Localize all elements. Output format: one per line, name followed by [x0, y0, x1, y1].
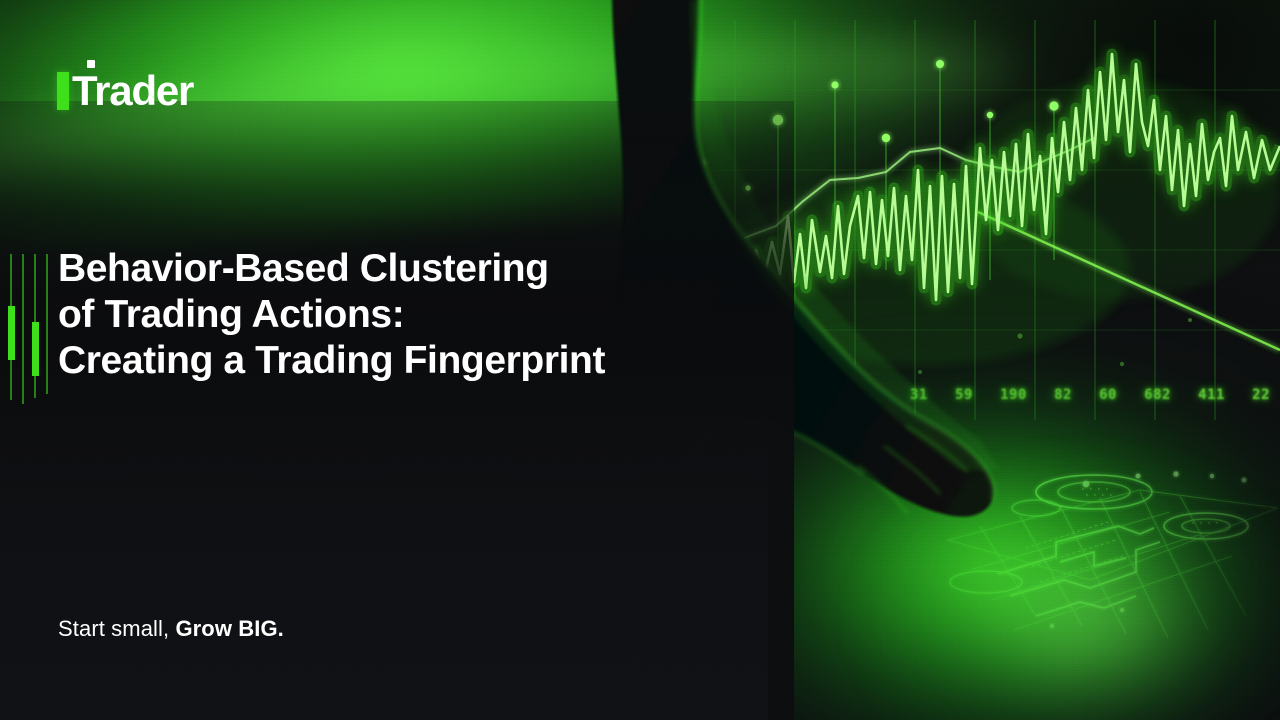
candlestick-accent-mark [8, 248, 52, 406]
logo-wordmark: Trader [72, 72, 193, 110]
logo-wordmark-text: Trader [72, 67, 193, 114]
headline-line-1: Behavior-Based Clustering [58, 246, 758, 292]
desk-glow-highlight [870, 475, 1280, 720]
headline-line-2: of Trading Actions: [58, 292, 758, 338]
headline-line-3: Creating a Trading Fingerprint [58, 338, 758, 384]
marketing-banner: 31 59 190 82 60 682 411 22 [0, 0, 1280, 720]
page-title: Behavior-Based Clustering of Trading Act… [58, 246, 758, 384]
tagline-bold: Grow BIG. [175, 616, 283, 641]
brand-tagline: Start small, Grow BIG. [58, 616, 284, 642]
tagline-normal: Start small, [58, 616, 175, 641]
brand-logo[interactable]: Trader [57, 66, 193, 110]
logo-i-bar-icon [57, 72, 69, 110]
bottom-dark-overlay [0, 389, 768, 720]
logo-dot-icon [87, 60, 95, 68]
